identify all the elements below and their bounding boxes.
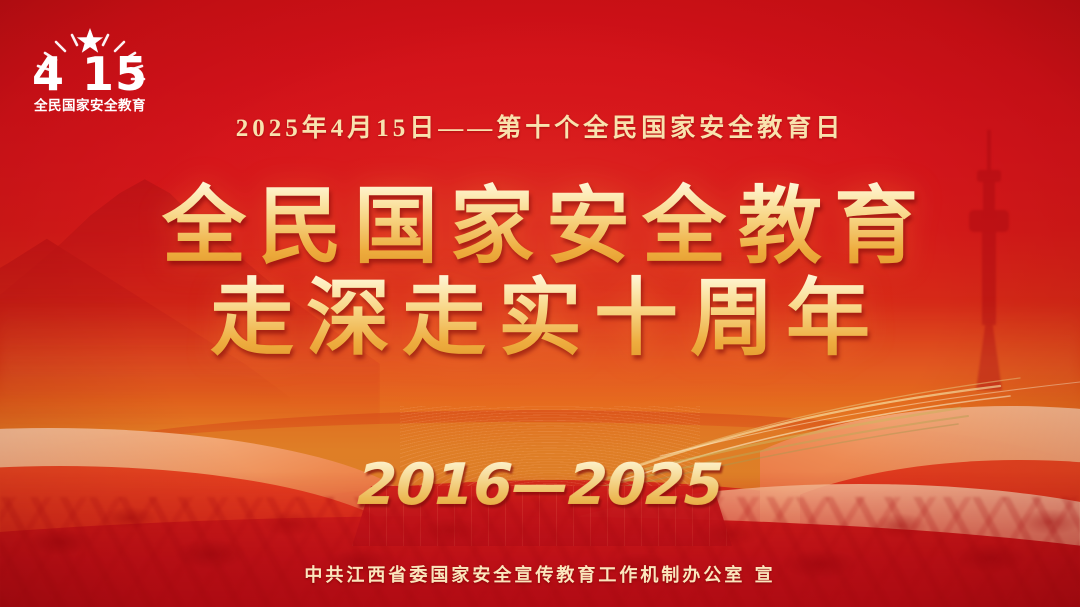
publisher-footer: 中共江西省委国家安全宣传教育工作机制办公室 宣 — [0, 561, 1080, 587]
logo-number: 4 15 — [32, 47, 148, 101]
poster-canvas: 4 15 全民国家安全教育 2025年4月15日——第十个全民国家安全教育日 全… — [0, 0, 1080, 607]
svg-text:4 15: 4 15 — [32, 47, 148, 101]
page-title: 全民国家安全教育 走深走实十周年 — [0, 180, 1080, 364]
415-national-security-education-logo: 4 15 全民国家安全教育 — [20, 22, 160, 118]
title-line-1: 全民国家安全教育 — [0, 180, 1080, 272]
year-range: 2016—2025 — [0, 452, 1080, 518]
title-line-2: 走深走实十周年 — [0, 272, 1080, 364]
event-subtitle: 2025年4月15日——第十个全民国家安全教育日 — [0, 108, 1080, 144]
